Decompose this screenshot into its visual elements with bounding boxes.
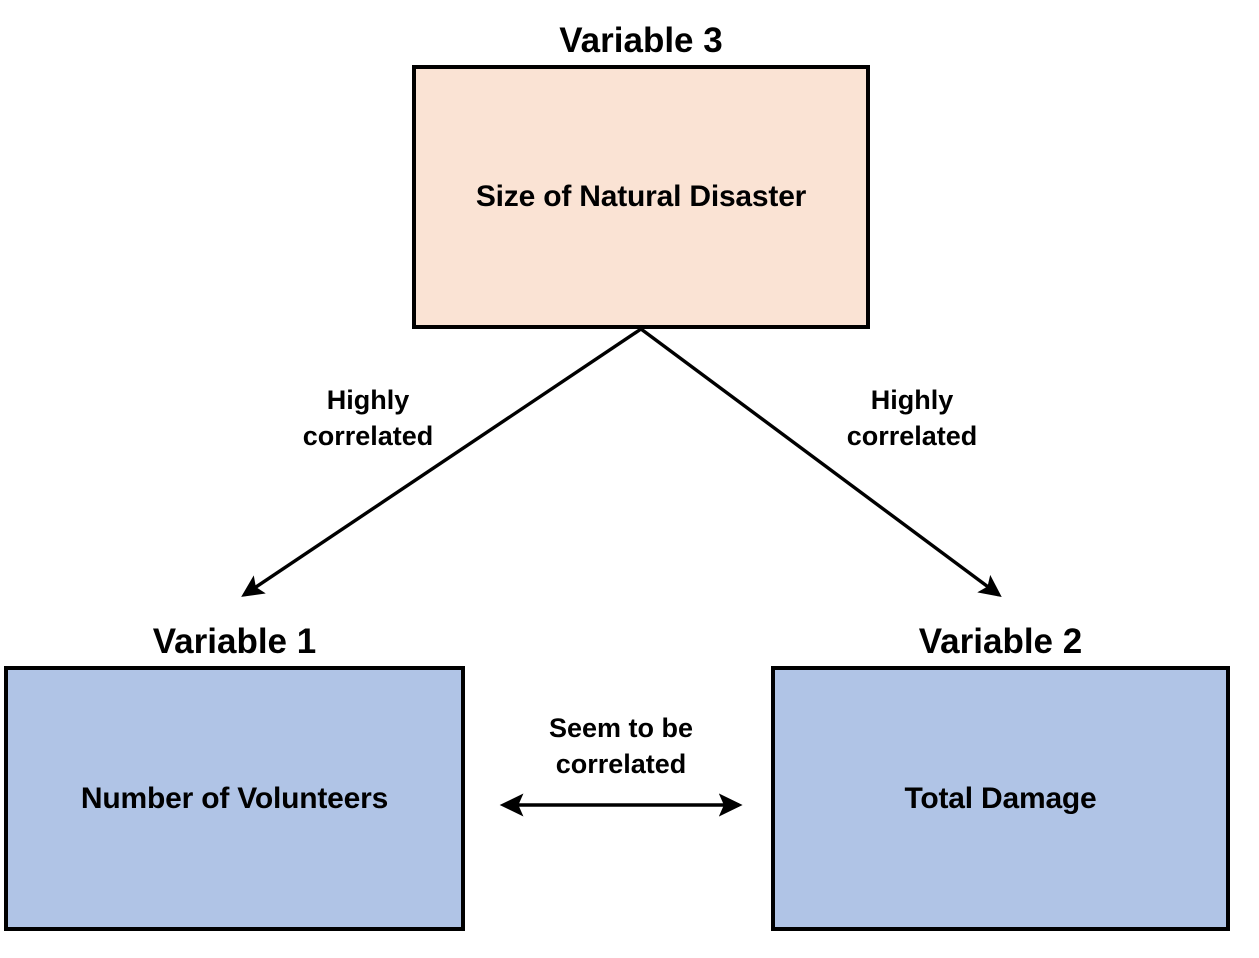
node-label-variable3: Size of Natural Disaster — [476, 180, 806, 214]
node-label-variable2: Total Damage — [904, 782, 1096, 816]
node-box-variable3[interactable]: Size of Natural Disaster — [412, 65, 870, 329]
arrow-variable3-to-variable1 — [244, 329, 641, 595]
caption-variable1: Variable 1 — [4, 622, 465, 662]
node-box-variable1[interactable]: Number of Volunteers — [4, 666, 465, 931]
diagram-canvas: Variable 3 Variable 1 Variable 2 Size of… — [0, 0, 1259, 958]
node-label-variable1: Number of Volunteers — [81, 782, 388, 816]
node-box-variable2[interactable]: Total Damage — [771, 666, 1230, 931]
caption-variable2: Variable 2 — [771, 622, 1230, 662]
edge-label-variable1-to-variable2: Seem to be correlated — [490, 710, 752, 783]
arrow-variable3-to-variable2 — [641, 329, 999, 595]
edge-label-variable3-to-variable2: Highly correlated — [792, 382, 1032, 455]
edge-label-variable3-to-variable1: Highly correlated — [248, 382, 488, 455]
caption-variable3: Variable 3 — [412, 21, 870, 61]
